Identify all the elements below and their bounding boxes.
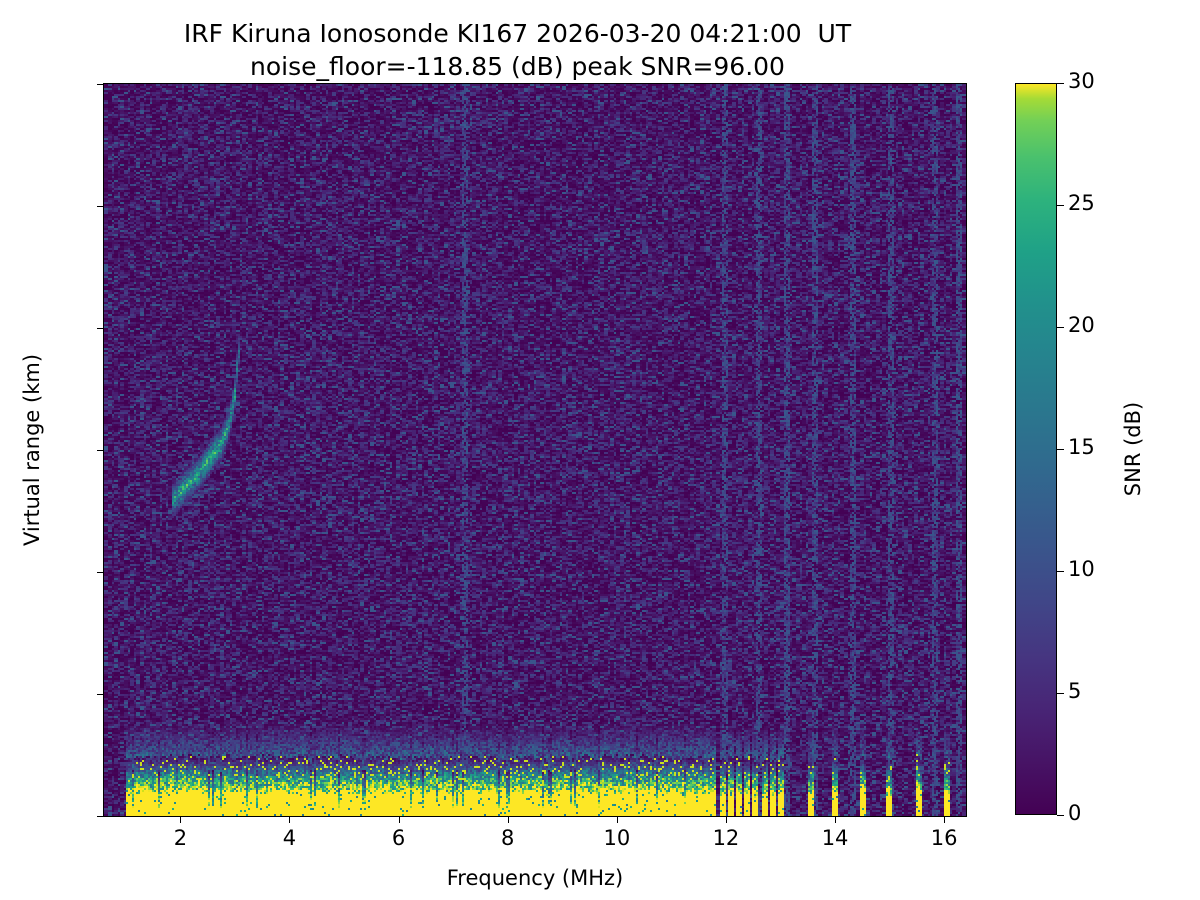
y-tick (97, 572, 104, 573)
colorbar: 051015202530 SNR (dB) (1015, 83, 1057, 815)
colorbar-tick-label: 15 (1068, 435, 1095, 459)
figure-title: IRF Kiruna Ionosonde KI167 2026-03-20 04… (0, 18, 1035, 83)
x-tick-label: 6 (392, 826, 405, 850)
y-tick (97, 206, 104, 207)
colorbar-gradient (1015, 83, 1057, 815)
x-tick-label: 10 (603, 826, 630, 850)
title-line-1: IRF Kiruna Ionosonde KI167 2026-03-20 04… (0, 18, 1035, 51)
plot-area: 0100200300400500600 246810121416 Virtual… (103, 83, 967, 817)
ionogram-heatmap (104, 84, 966, 816)
heatmap-canvas (104, 84, 966, 816)
y-tick (97, 694, 104, 695)
colorbar-tick-label: 20 (1068, 313, 1095, 337)
colorbar-tick (1057, 327, 1064, 328)
x-tick (835, 816, 836, 823)
x-tick (944, 816, 945, 823)
y-tick (97, 328, 104, 329)
x-tick (726, 816, 727, 823)
y-tick (97, 816, 104, 817)
ionogram-figure: IRF Kiruna Ionosonde KI167 2026-03-20 04… (0, 0, 1200, 900)
colorbar-tick (1057, 83, 1064, 84)
colorbar-tick-label: 0 (1068, 801, 1081, 825)
colorbar-tick-label: 5 (1068, 679, 1081, 703)
x-tick-label: 2 (174, 826, 187, 850)
colorbar-tick (1057, 815, 1064, 816)
colorbar-tick-label: 10 (1068, 557, 1095, 581)
colorbar-tick (1057, 693, 1064, 694)
x-tick (399, 816, 400, 823)
y-tick (97, 450, 104, 451)
x-tick (508, 816, 509, 823)
x-tick-label: 4 (283, 826, 296, 850)
x-tick-label: 14 (822, 826, 849, 850)
colorbar-tick (1057, 571, 1064, 572)
colorbar-tick (1057, 449, 1064, 450)
title-line-2: noise_floor=-118.85 (dB) peak SNR=96.00 (0, 51, 1035, 84)
colorbar-tick-label: 25 (1068, 191, 1095, 215)
colorbar-tick-label: 30 (1068, 69, 1095, 93)
y-tick (97, 84, 104, 85)
x-tick-label: 16 (931, 826, 958, 850)
y-axis-label: Virtual range (km) (20, 354, 44, 546)
x-tick-label: 12 (713, 826, 740, 850)
x-tick (180, 816, 181, 823)
x-tick (617, 816, 618, 823)
colorbar-tick (1057, 205, 1064, 206)
x-tick-label: 8 (501, 826, 514, 850)
x-axis-label: Frequency (MHz) (447, 866, 623, 890)
colorbar-label: SNR (dB) (1121, 402, 1145, 496)
x-tick (289, 816, 290, 823)
